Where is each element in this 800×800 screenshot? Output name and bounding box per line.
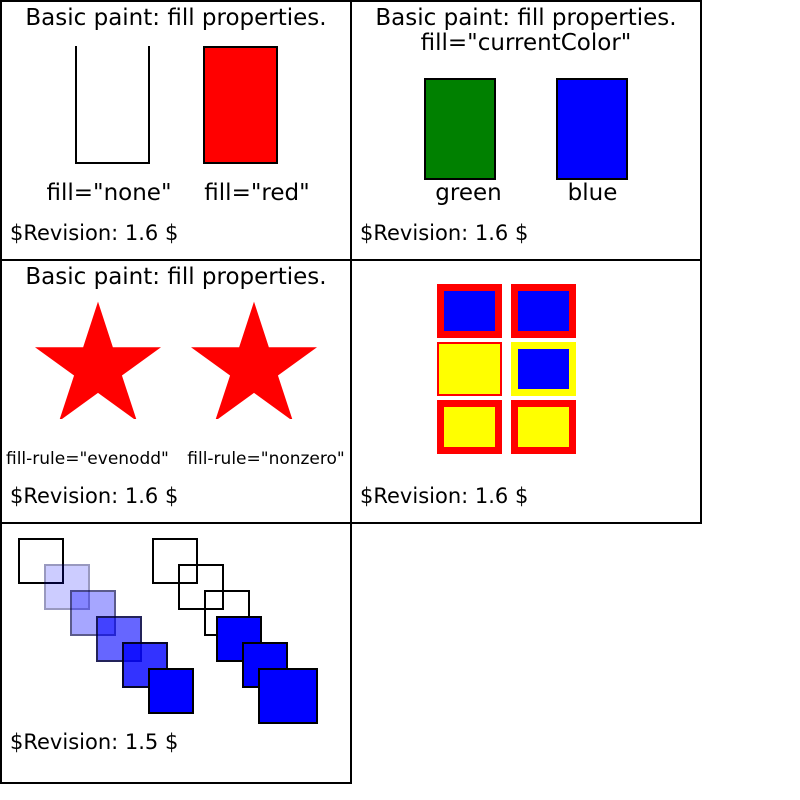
revision-label: $Revision: 1.5 $ — [10, 730, 178, 754]
caption-fill-red: fill="red" — [202, 180, 312, 206]
rect-green — [424, 78, 496, 180]
revision-label: $Revision: 1.6 $ — [10, 484, 178, 508]
panel-rect-grid: $Revision: 1.6 $ — [350, 259, 702, 524]
panel-fill-rule: Basic paint: fill properties. fill-rule=… — [0, 259, 352, 524]
grid-cell-r3c2 — [511, 400, 576, 454]
grid-cell-r1c1 — [437, 284, 502, 338]
shape-row — [2, 46, 350, 164]
caption-row: fill-rule="evenodd" fill-rule="nonzero" — [2, 449, 352, 469]
panel-fill-opacity: $Revision: 1.5 $ — [0, 522, 352, 784]
shape-row — [2, 299, 350, 419]
panel-title: Basic paint: fill properties. — [2, 6, 350, 31]
opacity-square-6 — [148, 668, 194, 714]
rect-grid — [437, 284, 617, 462]
caption-fill-rule-evenodd: fill-rule="evenodd" — [6, 449, 166, 469]
caption-fill-rule-nonzero: fill-rule="nonzero" — [186, 449, 346, 469]
grid-cell-r3c1 — [437, 400, 502, 454]
rect-fill-red — [203, 46, 278, 164]
panel-subtitle: fill="currentColor" — [352, 31, 700, 56]
caption-fill-none: fill="none" — [40, 180, 178, 206]
panel-title: Basic paint: fill properties. — [352, 6, 700, 31]
caption-row: green blue — [352, 180, 700, 206]
star-evenodd — [35, 299, 161, 419]
grid-cell-r2c2 — [511, 342, 576, 396]
opaque-square-6 — [258, 668, 318, 724]
grid-cell-r2c1 — [437, 342, 502, 396]
caption-row: fill="none" fill="red" — [2, 180, 350, 206]
revision-label: $Revision: 1.6 $ — [360, 221, 528, 245]
grid-cell-r1c2 — [511, 284, 576, 338]
panel-fill-properties-basic: Basic paint: fill properties. fill="none… — [0, 0, 352, 261]
caption-blue: blue — [563, 180, 623, 206]
revision-label: $Revision: 1.6 $ — [10, 221, 178, 245]
caption-green: green — [430, 180, 508, 206]
rect-blue — [556, 78, 628, 180]
svg-test-sheet: Basic paint: fill properties. fill="none… — [0, 0, 800, 800]
revision-label: $Revision: 1.6 $ — [360, 484, 528, 508]
panel-title: Basic paint: fill properties. — [2, 265, 350, 290]
panel-fill-current-color: Basic paint: fill properties. fill="curr… — [350, 0, 702, 261]
shape-row — [352, 78, 700, 180]
star-nonzero — [191, 299, 317, 419]
rect-fill-none — [75, 46, 150, 164]
